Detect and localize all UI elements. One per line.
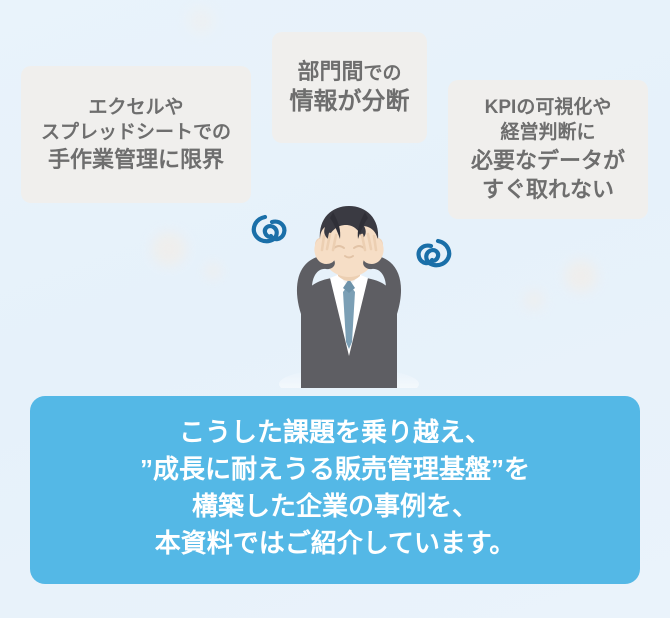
- background-blob-icon: [188, 8, 214, 34]
- pain-card-line: すぐ取れない: [482, 175, 614, 204]
- banner-line: 本資料ではご紹介しています。: [155, 525, 516, 562]
- stress-scribble-left-icon: [254, 217, 285, 241]
- pain-card-line: 部門間での: [297, 57, 401, 86]
- pain-point-card-kpi: KPIの可視化や 経営判断に 必要なデータが すぐ取れない: [448, 80, 648, 219]
- pain-card-line: スプレッドシートでの: [41, 120, 231, 145]
- background-blob-icon: [565, 260, 597, 292]
- stress-scribble-right-icon: [419, 241, 450, 265]
- banner-line: こうした課題を乗り越え、: [179, 414, 491, 451]
- banner-line: 構築した企業の事例を、: [192, 488, 478, 525]
- background-blob-icon: [524, 290, 544, 310]
- pain-point-card-excel: エクセルや スプレッドシートでの 手作業管理に限界: [21, 66, 251, 203]
- summary-banner: こうした課題を乗り越え、 ”成長に耐えうる販売管理基盤”を 構築した企業の事例を…: [30, 396, 640, 584]
- pain-card-line-strong: 部門間: [297, 59, 363, 84]
- banner-line: ”成長に耐えうる販売管理基盤”を: [140, 451, 530, 488]
- pain-card-line: 必要なデータが: [471, 146, 625, 175]
- background-blob-icon: [152, 232, 186, 266]
- background-blob-icon: [205, 263, 221, 279]
- pain-card-line: 情報が分断: [290, 86, 410, 118]
- pain-card-line: KPIの可視化や: [485, 95, 612, 120]
- pain-point-card-silo: 部門間での 情報が分断: [272, 32, 427, 143]
- stressed-businessman-illustration: [238, 196, 460, 388]
- pain-card-line-weak: での: [364, 63, 402, 84]
- pain-card-line: 手作業管理に限界: [48, 145, 224, 174]
- pain-card-line: エクセルや: [88, 95, 183, 120]
- slide-canvas: エクセルや スプレッドシートでの 手作業管理に限界 部門間での 情報が分断 KP…: [0, 0, 670, 618]
- pain-card-line: 経営判断に: [500, 120, 595, 145]
